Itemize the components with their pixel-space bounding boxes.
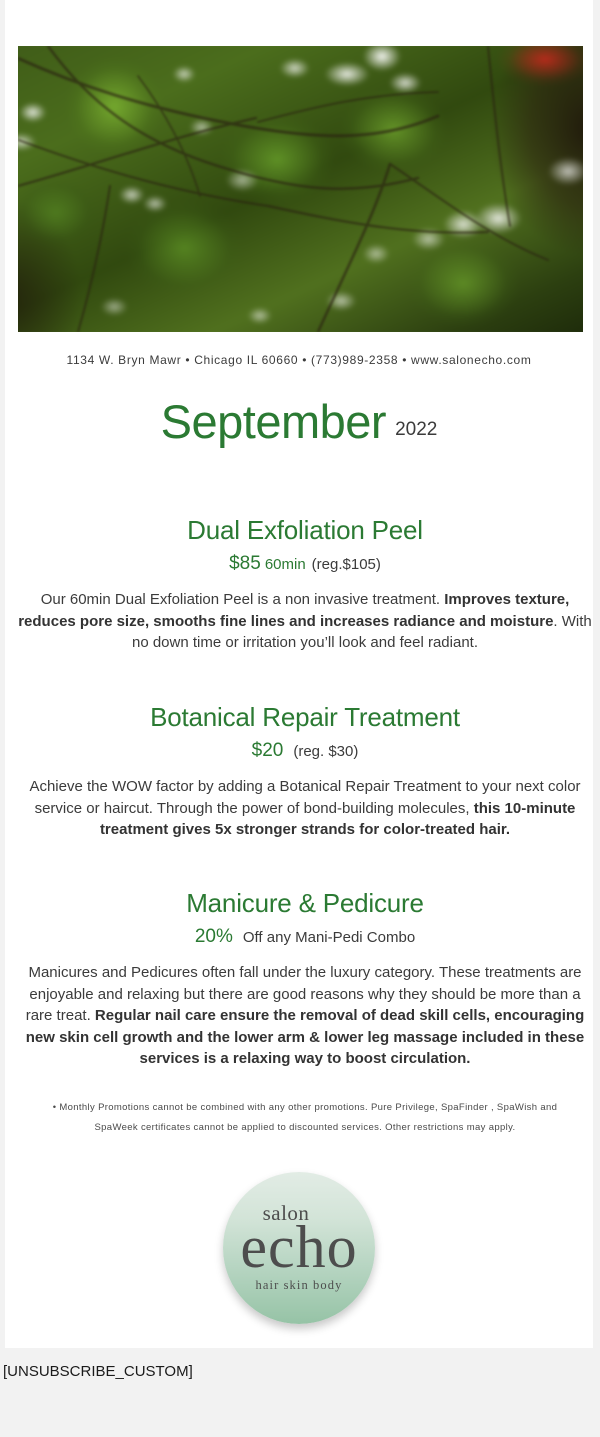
month-banner: September2022 <box>5 398 593 445</box>
promotion-description: Manicures and Pedicures often fall under… <box>17 962 593 1070</box>
promotion-regular-price: (reg.$105) <box>312 556 381 573</box>
promotion-price: $20 <box>252 740 284 761</box>
promotion-price-line: 20%Off any Mani-Pedi Combo <box>17 926 593 949</box>
promotion-price: 20% <box>195 926 233 947</box>
month-name: September <box>161 395 386 448</box>
logo-echo-word: echo <box>240 1218 357 1276</box>
promotion-title: Botanical Repair Treatment <box>17 702 593 732</box>
promotion-title: Manicure & Pedicure <box>17 888 593 918</box>
promotion-price-line: $20(reg. $30) <box>17 740 593 763</box>
promotion-regular-price: (reg. $30) <box>293 743 358 760</box>
promotion-description-bold: Regular nail care ensure the removal of … <box>26 1007 585 1067</box>
salon-logo: salon echo hair skin body <box>5 1172 593 1324</box>
promotion-price-line: $8560min(reg.$105) <box>17 553 593 576</box>
promotion-block: Botanical Repair Treatment $20(reg. $30)… <box>17 702 593 841</box>
promotion-duration: 60min <box>265 556 306 573</box>
promotion-description: Our 60min Dual Exfoliation Peel is a non… <box>17 589 593 654</box>
hero-image <box>18 46 583 332</box>
logo-circle: salon echo hair skin body <box>223 1172 375 1324</box>
promotion-block: Manicure & Pedicure 20%Off any Mani-Pedi… <box>17 888 593 1070</box>
promotions-disclaimer: • Monthly Promotions cannot be combined … <box>43 1098 567 1138</box>
promotion-price: $85 <box>229 553 261 574</box>
branch-overlay-icon <box>18 46 583 332</box>
promotion-description-lead: Our 60min Dual Exfoliation Peel is a non… <box>41 591 445 608</box>
promotion-regular-price: Off any Mani-Pedi Combo <box>243 929 415 946</box>
email-body-card: 1134 W. Bryn Mawr • Chicago IL 60660 • (… <box>5 0 593 1348</box>
promotion-title: Dual Exfoliation Peel <box>17 515 593 545</box>
unsubscribe-link[interactable]: [UNSUBSCRIBE_CUSTOM] <box>3 1362 193 1382</box>
month-year: 2022 <box>395 419 437 440</box>
business-address: 1134 W. Bryn Mawr • Chicago IL 60660 • (… <box>5 352 593 369</box>
promotion-description: Achieve the WOW factor by adding a Botan… <box>17 776 593 841</box>
email-newsletter-page: 1134 W. Bryn Mawr • Chicago IL 60660 • (… <box>0 0 600 1437</box>
promotion-block: Dual Exfoliation Peel $8560min(reg.$105)… <box>17 515 593 654</box>
logo-tagline: hair skin body <box>256 1278 343 1293</box>
